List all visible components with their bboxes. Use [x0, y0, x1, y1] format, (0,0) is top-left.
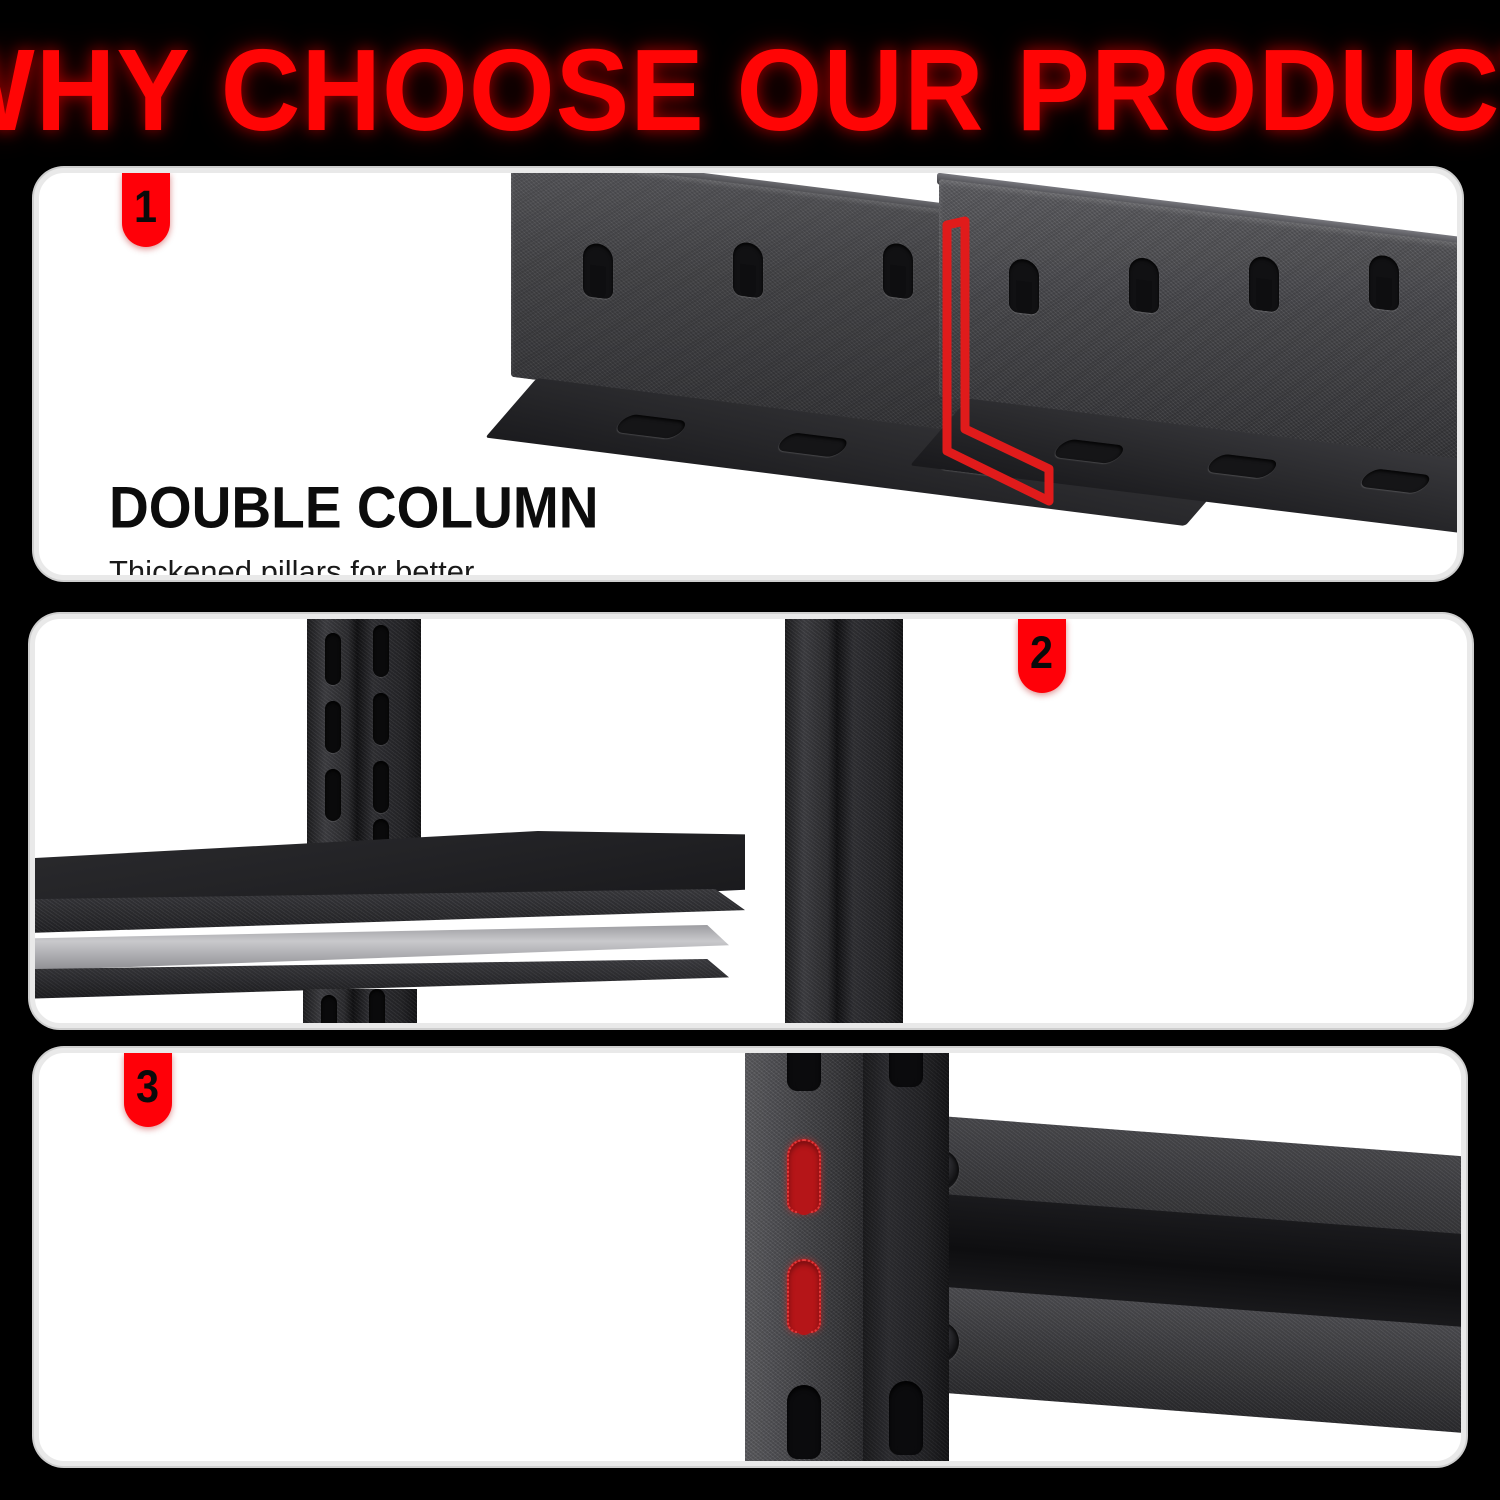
flange-slot: [1050, 439, 1128, 465]
feature-panel-fence-design: 2 FENCE DESIGN Anti-drop guard protect i…: [30, 614, 1472, 1028]
feature-badge-2: 2: [1018, 619, 1066, 693]
left-upright-top: [307, 615, 421, 853]
upright-post-side-face: [863, 1048, 949, 1466]
feature-1-text: DOUBLE COLUMN Thickened pillars for bett…: [109, 481, 539, 580]
keyhole-slot: [1009, 258, 1039, 316]
flange-slot: [1357, 468, 1435, 494]
keyhole-slot: [1369, 254, 1399, 312]
keyhole-slot: [787, 1385, 821, 1459]
keyhole-slot: [883, 242, 913, 300]
post-slot: [373, 693, 389, 745]
feature-badge-3: 3: [124, 1053, 172, 1127]
post-slot: [325, 769, 341, 821]
feature-panel-double-column: 1 DOUBLE COLUMN Thickened pillars for be…: [34, 168, 1462, 580]
feature-panel-gourd-mouth: 3 GOURD MOUTH Boltless design with up an…: [34, 1048, 1466, 1466]
keyhole-slot: [583, 242, 613, 300]
feature-badge-1: 1: [122, 173, 170, 247]
keyhole-slot: [733, 241, 763, 299]
post-slot: [325, 633, 341, 685]
feature-2-illustration: [35, 619, 1467, 1023]
page-title: WHY CHOOSE OUR PRODUCT: [0, 33, 1500, 149]
badge-number: 2: [1030, 630, 1053, 675]
post-slot: [321, 995, 337, 1028]
post-slot: [325, 701, 341, 753]
flange-slot: [612, 414, 690, 440]
right-upright: [785, 615, 903, 1028]
flange-slot: [774, 432, 852, 458]
badge-number: 3: [136, 1064, 159, 1109]
keyhole-slot: [1129, 256, 1159, 314]
keyhole-slot: [787, 1048, 821, 1091]
feature-1-title: DOUBLE COLUMN: [109, 479, 548, 538]
left-upright-bottom: [303, 989, 417, 1028]
post-slot: [373, 761, 389, 813]
flange-slot: [1204, 453, 1282, 479]
product-feature-poster: WHY CHOOSE OUR PRODUCT: [0, 0, 1500, 1500]
post-slot: [369, 989, 385, 1028]
keyhole-slot-highlighted: [787, 1139, 821, 1213]
feature-3-illustration: [39, 1053, 1461, 1461]
post-slot: [373, 625, 389, 677]
keyhole-slot-highlighted: [787, 1259, 821, 1333]
keyhole-slot: [889, 1381, 923, 1455]
keyhole-slot: [889, 1048, 923, 1087]
badge-number: 1: [134, 184, 157, 229]
feature-1-description: Thickened pillars for better load bearin…: [109, 552, 539, 580]
poster-header: WHY CHOOSE OUR PRODUCT: [0, 36, 1500, 146]
keyhole-slot: [1249, 255, 1279, 313]
upright-post-front-face: [745, 1048, 863, 1466]
